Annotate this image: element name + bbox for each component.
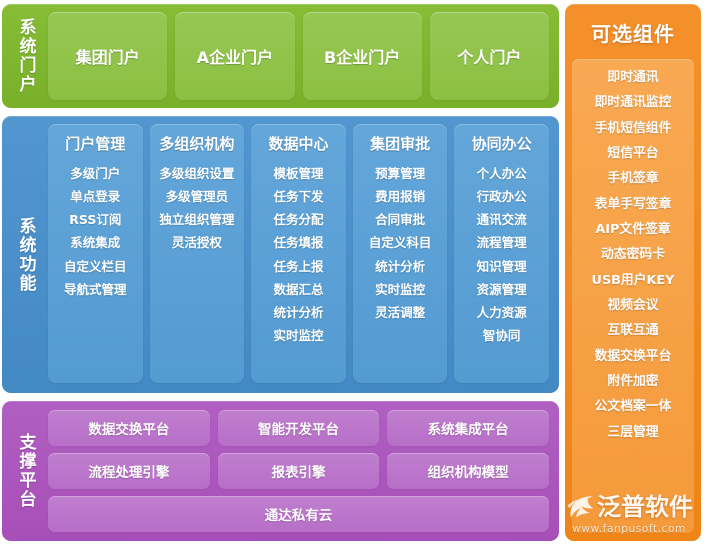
optional-column: 可选组件 即时通讯 即时通讯监控 手机短信组件 短信平台 手机签章 表单手写签章… [565, 4, 701, 541]
function-item[interactable]: 资源管理 [477, 278, 527, 301]
optional-item[interactable]: 互联互通 [607, 318, 658, 343]
function-item[interactable]: 实时监控 [273, 324, 323, 347]
portal-card[interactable]: B企业门户 [303, 12, 422, 100]
optional-item[interactable]: 附件加密 [607, 369, 658, 394]
support-card-cloud[interactable]: 通达私有云 [48, 496, 549, 532]
main-column: 系统门户 集团门户 A企业门户 B企业门户 个人门户 系统功能 门户管理 多级门… [2, 4, 559, 541]
support-card[interactable]: 流程处理引擎 [48, 453, 210, 489]
function-column[interactable]: 数据中心 模板管理 任务下发 任务分配 任务填报 任务上报 数据汇总 统计分析 … [251, 124, 346, 383]
function-column-title: 多组织机构 [159, 133, 234, 154]
function-item[interactable]: 导航式管理 [64, 278, 127, 301]
function-item[interactable]: 自定义科目 [369, 231, 432, 254]
support-card-grid: 数据交换平台 智能开发平台 系统集成平台 流程处理引擎 报表引擎 组织机构模型 … [48, 401, 559, 541]
portal-band: 系统门户 集团门户 A企业门户 B企业门户 个人门户 [2, 4, 559, 108]
function-item[interactable]: 统计分析 [273, 301, 323, 324]
function-item[interactable]: 模板管理 [273, 162, 323, 185]
support-row: 通达私有云 [48, 496, 549, 532]
function-item[interactable]: 任务上报 [273, 255, 323, 278]
optional-item[interactable]: 表单手写签章 [595, 192, 672, 217]
support-card[interactable]: 组织机构模型 [387, 453, 549, 489]
optional-item-list: 即时通讯 即时通讯监控 手机短信组件 短信平台 手机签章 表单手写签章 AIP文… [572, 59, 694, 533]
optional-item[interactable]: AIP文件签章 [595, 217, 670, 242]
function-item[interactable]: 智协同 [483, 324, 521, 347]
function-item[interactable]: 合同审批 [375, 208, 425, 231]
function-item[interactable]: 个人办公 [477, 162, 527, 185]
function-item[interactable]: RSS订阅 [69, 208, 121, 231]
portal-card-list: 集团门户 A企业门户 B企业门户 个人门户 [48, 4, 559, 108]
function-column-title: 门户管理 [65, 133, 125, 154]
portal-card[interactable]: 集团门户 [48, 12, 167, 100]
function-item[interactable]: 任务分配 [273, 208, 323, 231]
portal-band-label: 系统门户 [2, 4, 48, 108]
optional-components-panel: 可选组件 即时通讯 即时通讯监控 手机短信组件 短信平台 手机签章 表单手写签章… [565, 4, 701, 541]
function-column[interactable]: 门户管理 多级门户 单点登录 RSS订阅 系统集成 自定义栏目 导航式管理 [48, 124, 143, 383]
support-row: 数据交换平台 智能开发平台 系统集成平台 [48, 410, 549, 446]
function-item[interactable]: 任务填报 [273, 231, 323, 254]
optional-panel-title: 可选组件 [591, 18, 675, 47]
optional-item[interactable]: 手机短信组件 [595, 116, 672, 141]
support-row: 流程处理引擎 报表引擎 组织机构模型 [48, 453, 549, 489]
function-column[interactable]: 多组织机构 多级组织设置 多级管理员 独立组织管理 灵活授权 [150, 124, 245, 383]
function-item[interactable]: 实时监控 [375, 278, 425, 301]
function-item[interactable]: 多级组织设置 [159, 162, 234, 185]
function-item[interactable]: 费用报销 [375, 185, 425, 208]
function-item[interactable]: 通讯交流 [477, 208, 527, 231]
function-column-title: 数据中心 [268, 133, 328, 154]
function-item[interactable]: 知识管理 [477, 255, 527, 278]
optional-item[interactable]: 数据交换平台 [595, 344, 672, 369]
architecture-diagram: 系统门户 集团门户 A企业门户 B企业门户 个人门户 系统功能 门户管理 多级门… [0, 0, 707, 545]
optional-item[interactable]: 手机签章 [607, 166, 658, 191]
function-item[interactable]: 人力资源 [477, 301, 527, 324]
optional-item[interactable]: 短信平台 [607, 141, 658, 166]
optional-item[interactable]: 视频会议 [607, 293, 658, 318]
function-column-title: 协同办公 [472, 133, 532, 154]
optional-item[interactable]: 三层管理 [607, 420, 658, 445]
support-band: 支撑平台 数据交换平台 智能开发平台 系统集成平台 流程处理引擎 报表引擎 组织… [2, 401, 559, 541]
optional-item[interactable]: 即时通讯监控 [595, 90, 672, 115]
function-item[interactable]: 灵活授权 [172, 231, 222, 254]
function-item[interactable]: 系统集成 [70, 231, 120, 254]
function-band: 系统功能 门户管理 多级门户 单点登录 RSS订阅 系统集成 自定义栏目 导航式… [2, 116, 559, 393]
function-column[interactable]: 集团审批 预算管理 费用报销 合同审批 自定义科目 统计分析 实时监控 灵活调整 [353, 124, 448, 383]
optional-item[interactable]: 动态密码卡 [601, 242, 665, 267]
support-card[interactable]: 数据交换平台 [48, 410, 210, 446]
support-card[interactable]: 报表引擎 [218, 453, 380, 489]
function-item[interactable]: 单点登录 [70, 185, 120, 208]
function-item[interactable]: 行政办公 [477, 185, 527, 208]
function-item[interactable]: 任务下发 [273, 185, 323, 208]
function-band-label: 系统功能 [2, 116, 48, 393]
function-column-list: 门户管理 多级门户 单点登录 RSS订阅 系统集成 自定义栏目 导航式管理 多组… [48, 116, 559, 393]
function-item[interactable]: 多级门户 [70, 162, 120, 185]
optional-item[interactable]: USB用户KEY [592, 268, 675, 293]
optional-item[interactable]: 即时通讯 [607, 65, 658, 90]
function-item[interactable]: 统计分析 [375, 255, 425, 278]
portal-card[interactable]: 个人门户 [430, 12, 549, 100]
function-item[interactable]: 多级管理员 [166, 185, 229, 208]
support-card[interactable]: 系统集成平台 [387, 410, 549, 446]
function-column-title: 集团审批 [370, 133, 430, 154]
function-column[interactable]: 协同办公 个人办公 行政办公 通讯交流 流程管理 知识管理 资源管理 人力资源 … [454, 124, 549, 383]
function-item[interactable]: 流程管理 [477, 231, 527, 254]
portal-card[interactable]: A企业门户 [175, 12, 294, 100]
support-band-label: 支撑平台 [2, 401, 48, 541]
function-item[interactable]: 独立组织管理 [159, 208, 234, 231]
function-item[interactable]: 灵活调整 [375, 301, 425, 324]
optional-item[interactable]: 公文档案一体 [595, 394, 672, 419]
function-item[interactable]: 自定义栏目 [64, 255, 127, 278]
support-card[interactable]: 智能开发平台 [218, 410, 380, 446]
function-item[interactable]: 数据汇总 [273, 278, 323, 301]
function-item[interactable]: 预算管理 [375, 162, 425, 185]
